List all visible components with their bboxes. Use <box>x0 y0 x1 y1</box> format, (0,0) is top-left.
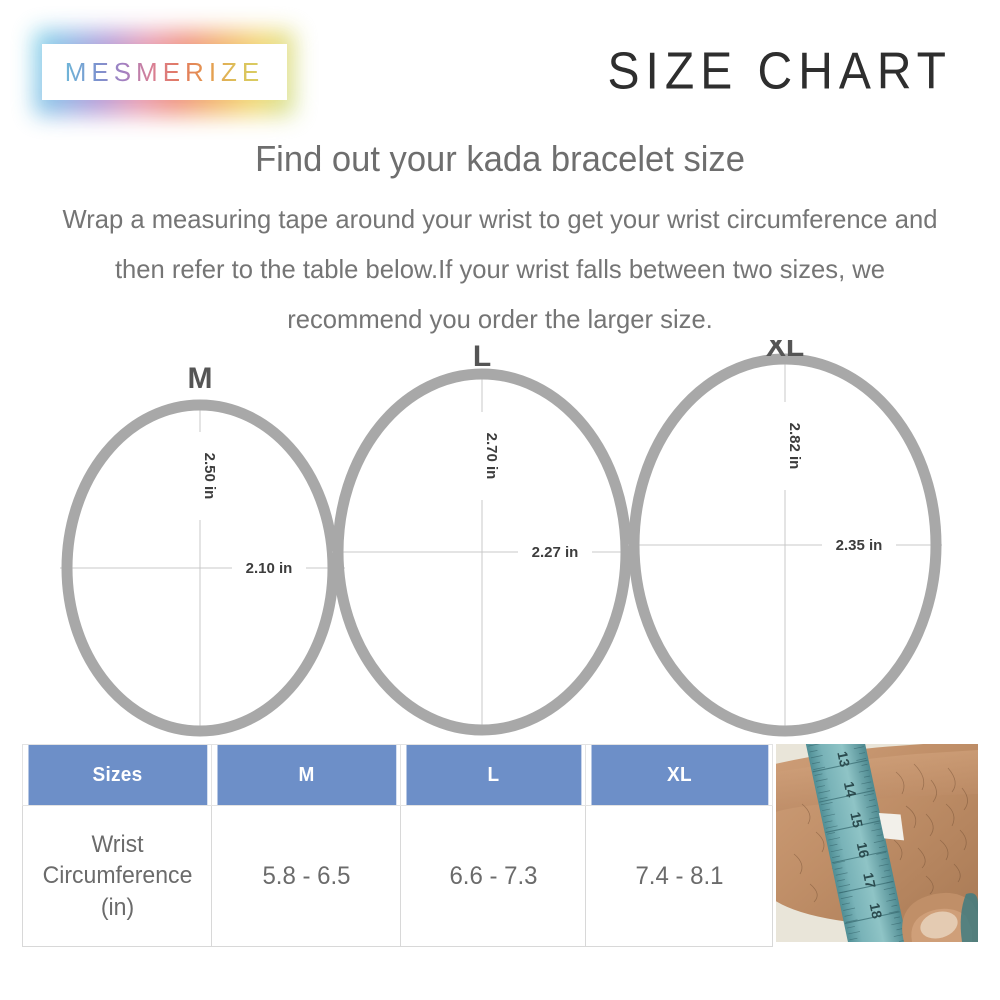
l-size-label: L <box>473 340 491 373</box>
oval-diagram-l: L 2.70 in 2.27 in <box>332 340 632 730</box>
l-height-label: 2.70 in <box>483 433 500 480</box>
bracelet-size-diagrams: M 2.50 in 2.10 in L 2.70 in 2.27 in XL 2… <box>0 340 1000 740</box>
row-label-line-3: (in) <box>28 892 207 923</box>
xl-height-label: 2.82 in <box>786 423 803 470</box>
xl-size-label: XL <box>766 340 804 363</box>
size-table: Sizes M L XL Wrist Circumference (in) 5.… <box>22 744 773 947</box>
m-width-label: 2.10 in <box>246 560 293 577</box>
intro-block: Find out your kada bracelet size Wrap a … <box>48 138 952 345</box>
page-title: SIZE CHART <box>608 42 952 101</box>
intro-body-text: Wrap a measuring tape around your wrist … <box>55 194 945 345</box>
brand-logo: MESMERIZE <box>42 38 287 108</box>
l-width-label: 2.27 in <box>532 544 579 561</box>
oval-diagram-m: M 2.50 in 2.10 in <box>60 362 345 732</box>
cell-wrist-xl: 7.4 - 8.1 <box>589 806 769 947</box>
xl-width-label: 2.35 in <box>836 537 883 554</box>
cell-wrist-m: 5.8 - 6.5 <box>215 806 396 947</box>
logo-wordmark: MESMERIZE <box>65 57 265 88</box>
table-header-xl: XL <box>590 745 768 806</box>
table-header-m: M <box>216 745 396 806</box>
table-header-sizes: Sizes <box>27 745 207 806</box>
row-label-line-1: Wrist <box>28 829 207 860</box>
table-header-row: Sizes M L XL <box>23 745 773 806</box>
intro-heading: Find out your kada bracelet size <box>66 138 934 180</box>
table-row: Wrist Circumference (in) 5.8 - 6.5 6.6 -… <box>23 806 773 947</box>
row-label-wrist-circumference: Wrist Circumference (in) <box>26 806 207 947</box>
cell-wrist-l: 6.6 - 7.3 <box>404 806 582 947</box>
wrist-measuring-tape-photo: 13 14 15 16 17 18 <box>776 744 978 942</box>
m-height-label: 2.50 in <box>201 453 218 500</box>
table-header-l: L <box>405 745 581 806</box>
logo-box: MESMERIZE <box>42 44 287 100</box>
oval-diagram-xl: XL 2.82 in 2.35 in <box>628 340 942 731</box>
m-size-label: M <box>188 362 213 395</box>
row-label-line-2: Circumference <box>28 860 207 891</box>
